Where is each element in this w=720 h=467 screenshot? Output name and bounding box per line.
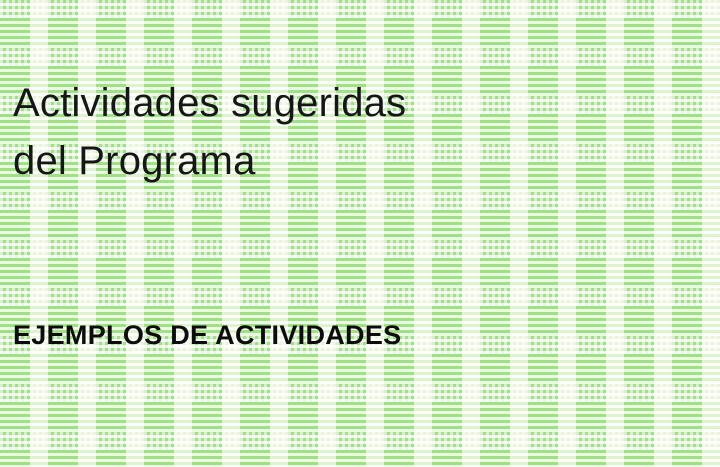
slide-content: Actividades sugeridas del Programa EJEMP…: [0, 0, 720, 467]
slide-title: Actividades sugeridas del Programa: [13, 74, 673, 190]
slide-subtitle: EJEMPLOS DE ACTIVIDADES: [13, 318, 673, 352]
slide-canvas: Actividades sugeridas del Programa EJEMP…: [0, 0, 720, 467]
